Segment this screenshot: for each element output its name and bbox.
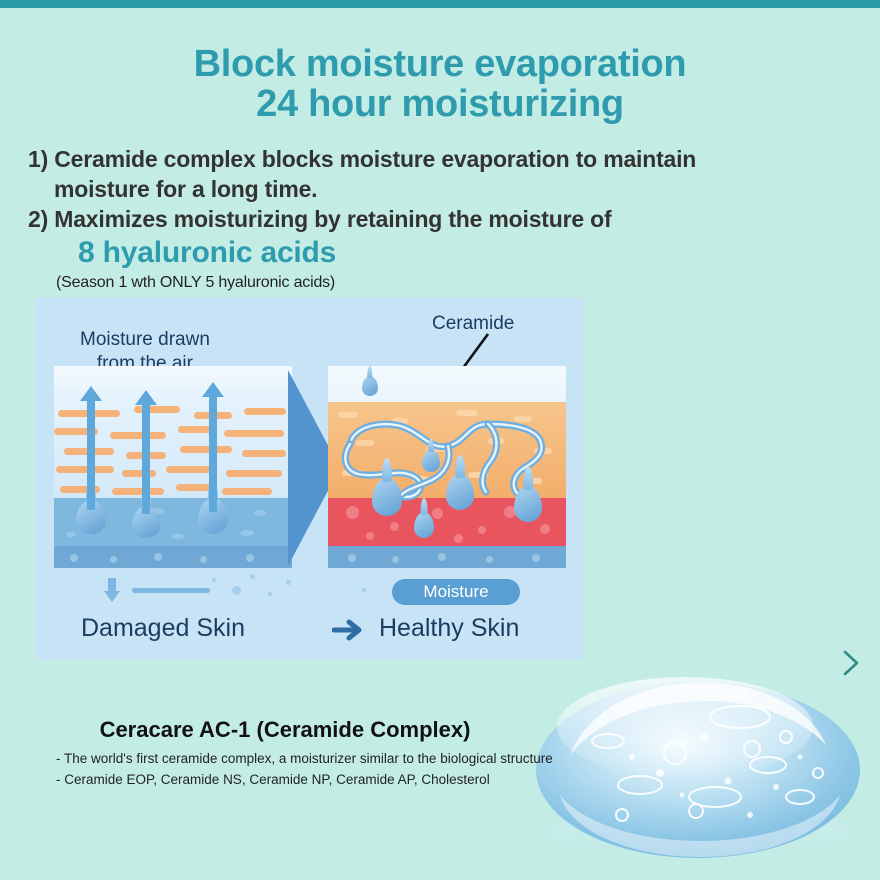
broken-barrier-dash <box>242 450 286 457</box>
retained-droplet <box>362 376 378 396</box>
headline-line-1: Block moisture evaporation <box>194 43 687 85</box>
moisture-badge: Moisture <box>392 579 520 605</box>
subcutis-dot <box>110 556 117 563</box>
headline-line-2: 24 hour moisturizing <box>0 84 880 124</box>
dermis-dot <box>66 532 76 537</box>
arrow-shaft <box>209 394 217 512</box>
healthy-skin-cross-section <box>328 366 566 568</box>
broken-barrier-dash <box>224 430 284 437</box>
dermis-dot <box>254 510 266 516</box>
retained-droplet <box>414 512 434 538</box>
subcutis-dot <box>200 556 207 563</box>
barrier-line <box>132 588 210 593</box>
moisture-speck <box>250 574 255 579</box>
product-name: Ceracare AC-1 (Ceramide Complex) <box>0 716 570 744</box>
infographic-slide: Block moisture evaporation 24 hour moist… <box>0 0 880 880</box>
benefit-1-line-1: 1) Ceramide complex blocks moisture evap… <box>28 144 858 174</box>
hyaluronic-acid-count: 8 hyaluronic acids <box>28 234 858 272</box>
broken-barrier-dash <box>226 470 282 477</box>
benefit-list: 1) Ceramide complex blocks moisture evap… <box>28 144 858 294</box>
subcutis-dot <box>70 554 78 562</box>
skin-comparison-diagram: Moisture drawn from the air Ceramide <box>36 298 584 660</box>
broken-barrier-dash <box>244 408 286 415</box>
healthy-skin-caption: Healthy Skin <box>379 613 519 643</box>
arrow-shaft <box>108 578 116 592</box>
product-description: - The world's first ceramide complex, a … <box>56 748 596 790</box>
dermis-dot <box>240 530 254 536</box>
retained-droplet <box>422 450 440 472</box>
moisture-escape-arrow <box>80 386 102 506</box>
product-description-line-1: - The world's first ceramide complex, a … <box>56 748 596 769</box>
dermis-dot <box>172 534 184 539</box>
page-title: Block moisture evaporation 24 hour moist… <box>0 44 880 124</box>
retained-droplet <box>514 486 542 522</box>
moisture-escape-arrow <box>135 390 157 510</box>
damaged-skin-cross-section <box>54 366 292 568</box>
arrow-head <box>104 591 120 602</box>
product-description-line-2: - Ceramide EOP, Ceramide NS, Ceramide NP… <box>56 769 596 790</box>
moisture-speck <box>286 580 291 585</box>
moisture-escape-arrow <box>202 382 224 508</box>
benefit-1-line-2: moisture for a long time. <box>28 174 858 204</box>
moisture-from-air-line-1: Moisture drawn <box>80 328 210 352</box>
top-accent-bar <box>0 0 880 8</box>
moisture-speck <box>212 578 216 582</box>
moisture-speck <box>268 592 272 596</box>
broken-barrier-dash <box>222 488 272 495</box>
subcutis-dot <box>246 554 254 562</box>
ceramide-complex-tube <box>328 366 566 568</box>
moisture-speck <box>232 586 241 595</box>
season-comparison-note: (Season 1 wth ONLY 5 hyaluronic acids) <box>28 272 858 294</box>
subcutis-layer-damaged <box>54 546 292 568</box>
damaged-skin-caption: Damaged Skin <box>81 613 245 643</box>
retained-droplet <box>446 474 474 510</box>
chevron-right-icon[interactable] <box>838 648 864 678</box>
subcutis-dot <box>154 553 162 561</box>
right-arrow-icon <box>332 618 366 642</box>
benefit-2-line-1: 2) Maximizes moisturizing by retaining t… <box>28 204 858 234</box>
moisture-speck <box>362 588 366 592</box>
arrow-shaft <box>87 398 95 510</box>
arrow-shaft <box>142 402 150 514</box>
